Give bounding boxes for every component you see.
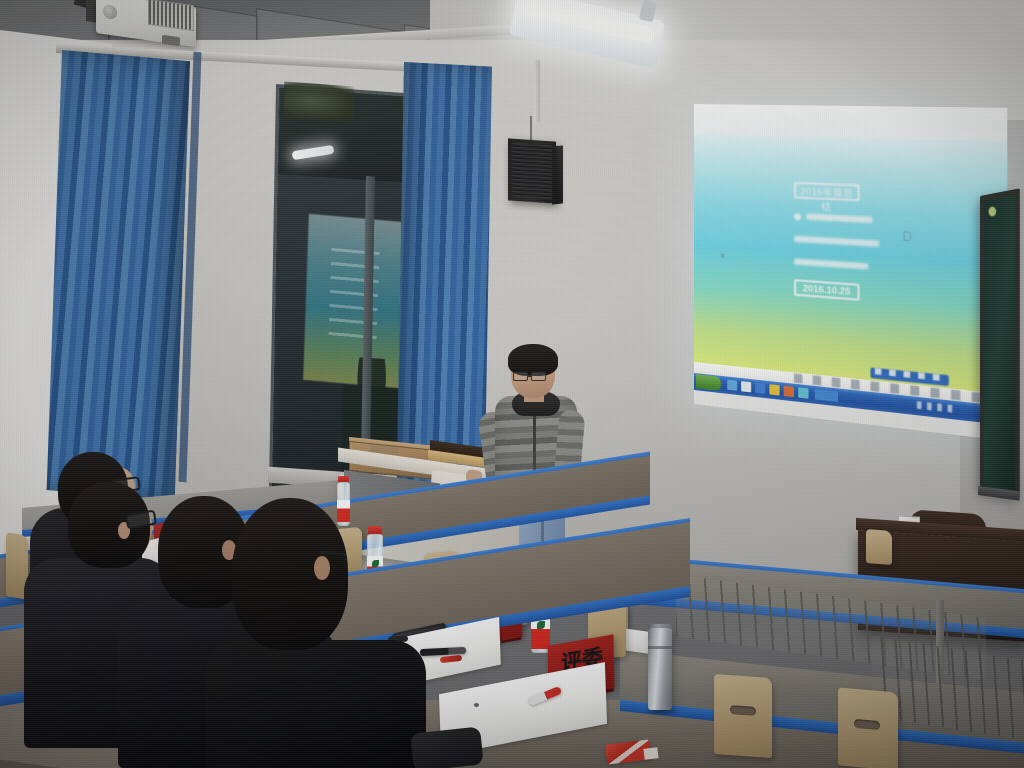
taskbar-icon-4[interactable] <box>769 384 779 395</box>
bottle-leaf-icon <box>537 621 545 629</box>
steel-thermos[interactable] <box>648 628 672 710</box>
foliage-reflection <box>284 82 355 123</box>
taskbar-icon-5[interactable] <box>784 386 794 397</box>
glasses-icon <box>513 372 528 381</box>
curtain-right[interactable] <box>396 62 492 497</box>
projection-screen[interactable]: 2016年度总结 2016.10.25 17:26 <box>694 104 1007 441</box>
table-debris <box>556 640 560 643</box>
slide-canvas: 2016年度总结 2016.10.25 <box>694 134 1007 399</box>
bottle-label <box>337 500 350 522</box>
wall-conduit <box>534 60 540 122</box>
table-debris <box>474 703 479 707</box>
glasses-bridge <box>527 375 532 377</box>
snack-package-tail <box>643 747 658 760</box>
chair-handle-slot <box>730 705 756 716</box>
taskbar-icon-2[interactable] <box>741 381 751 392</box>
audience-member-4-head <box>232 498 348 650</box>
slide-bullet-icon <box>794 213 801 221</box>
chalkboard <box>980 188 1020 499</box>
speaker-grille <box>512 143 552 200</box>
glasses-icon <box>531 372 546 381</box>
chair-back[interactable] <box>866 529 892 565</box>
slide-date: 2016.10.25 <box>794 279 860 301</box>
classroom-scene: 2016年度总结 2016.10.25 17:26 <box>0 0 1024 768</box>
thermos-band <box>648 646 672 649</box>
taskbar-icon-3[interactable] <box>755 383 765 394</box>
bag[interactable] <box>410 726 484 768</box>
audience-member-4-ear <box>314 556 330 580</box>
slide-title: 2016年度总结 <box>794 182 860 201</box>
taskbar-icon-6[interactable] <box>798 387 808 399</box>
bottle-leaf-icon <box>372 560 379 567</box>
taskbar-icon-1[interactable] <box>727 380 737 391</box>
chair-back[interactable] <box>714 674 772 758</box>
chalkboard-magnet-icon <box>988 206 997 217</box>
audience-member-4[interactable] <box>206 640 426 768</box>
slide-text-line-2 <box>794 236 879 247</box>
slide-text-line-1 <box>806 214 872 224</box>
curtain-left[interactable] <box>47 50 190 501</box>
start-button-icon[interactable] <box>696 374 721 391</box>
slide-text-line-3 <box>794 258 868 269</box>
mouse-cursor-icon <box>904 231 912 241</box>
slide-speck <box>721 254 724 258</box>
